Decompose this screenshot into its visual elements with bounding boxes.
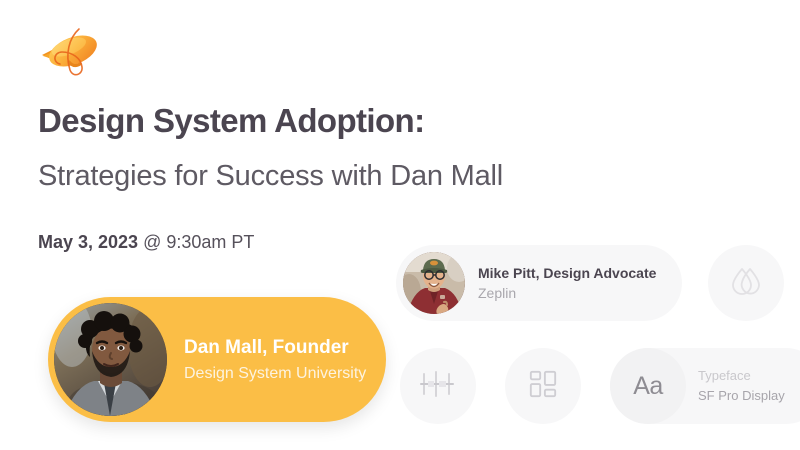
components-chip — [505, 348, 581, 424]
spacing-chip — [400, 348, 476, 424]
speaker-card-dan-mall: Dan Mall, Founder Design System Universi… — [48, 297, 386, 422]
dan-mall-avatar — [54, 303, 167, 416]
typeface-chip: Aa Typeface SF Pro Display — [610, 348, 800, 424]
event-time: @ 9:30am PT — [143, 232, 254, 252]
zeppelin-logo-icon — [38, 26, 104, 78]
page-title: Design System Adoption: — [38, 102, 425, 140]
typeface-label: Typeface — [698, 367, 785, 386]
event-datetime: May 3, 2023 @ 9:30am PT — [38, 232, 254, 253]
event-date: May 3, 2023 — [38, 232, 138, 252]
speaker-card-mike-pitt: Mike Pitt, Design Advocate Zeplin — [396, 245, 682, 321]
mike-pitt-avatar — [403, 252, 465, 314]
speaker-meta: Mike Pitt, Design Advocate Zeplin — [478, 264, 656, 303]
typeface-glyph-circle: Aa — [610, 348, 686, 424]
typeface-meta: Typeface SF Pro Display — [698, 367, 785, 406]
page-subtitle: Strategies for Success with Dan Mall — [38, 160, 503, 193]
webinar-promo-slide: Design System Adoption: Strategies for S… — [0, 0, 800, 450]
spacing-measure-icon — [420, 369, 456, 404]
typeface-value: SF Pro Display — [698, 387, 785, 406]
speaker-name: Dan Mall, Founder — [184, 335, 366, 360]
aa-glyph: Aa — [633, 372, 663, 401]
speaker-meta: Dan Mall, Founder Design System Universi… — [184, 335, 366, 384]
speaker-organization: Design System University — [184, 363, 366, 384]
speaker-name: Mike Pitt, Design Advocate — [478, 264, 656, 282]
components-grid-icon — [528, 369, 558, 404]
speaker-organization: Zeplin — [478, 284, 656, 302]
color-droplets-icon — [729, 264, 763, 303]
color-chip — [708, 245, 784, 321]
